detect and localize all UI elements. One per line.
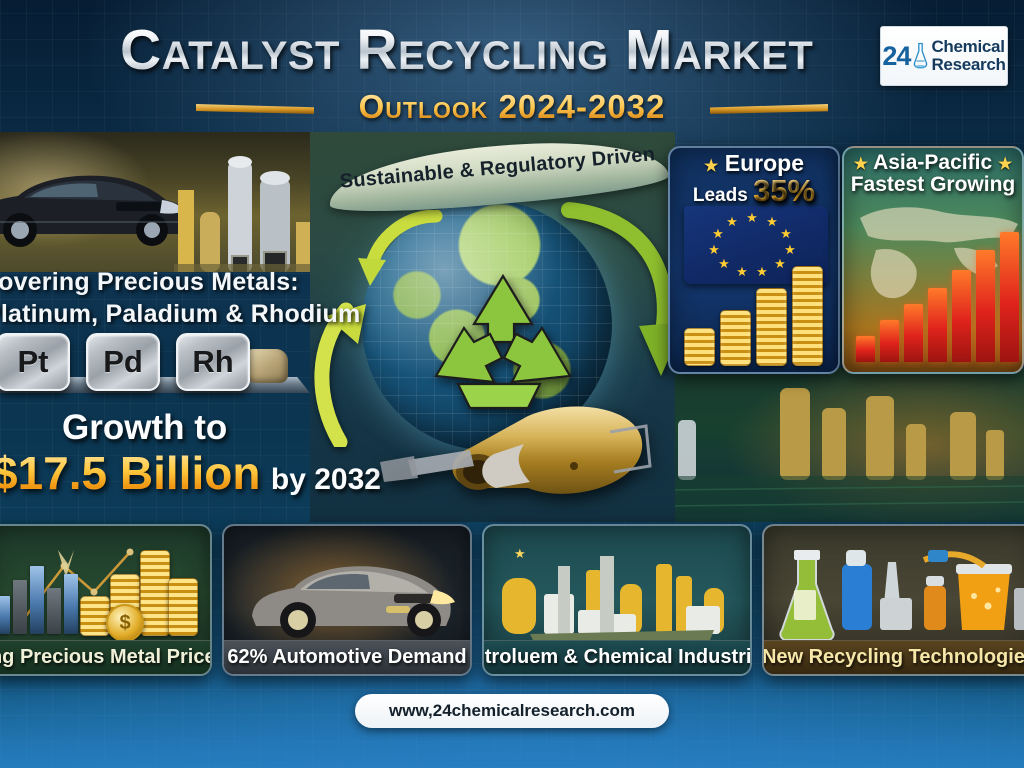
rising-bars-icon (856, 230, 1020, 362)
logo-wordmark: Chemical Research (931, 38, 1005, 73)
logo-line-2: Research (931, 56, 1005, 74)
flask-icon (913, 41, 928, 71)
bar (856, 336, 875, 362)
platinum-badge[interactable]: Pt (0, 333, 70, 391)
bar (928, 288, 947, 362)
infographic-poster: Catalyst Recycling Market Outlook 2024-2… (0, 0, 1024, 768)
europe-title-row: ★ Europe (670, 152, 838, 175)
panel-caption: New Recycling Technologies (764, 640, 1024, 674)
svg-text:★: ★ (766, 214, 778, 229)
svg-text:★: ★ (514, 546, 526, 561)
europe-panel-heading: ★ Europe Leads 35% (670, 152, 838, 207)
svg-text:★: ★ (726, 214, 738, 229)
ore-chunk-right-icon (246, 349, 288, 383)
panel-caption: 62% Automotive Demand (224, 640, 470, 674)
coins-and-chart-icon: $ (80, 540, 198, 636)
growth-value: $17.5 Billion (0, 447, 260, 499)
asia-title-row: ★ Asia-Pacific ★ (844, 152, 1022, 174)
bar (0, 596, 10, 634)
precious-metals-heading: covering Precious Metals: Platinum, Pala… (0, 268, 314, 329)
panel-caption: sing Precious Metal Prices (0, 640, 210, 674)
silver-sedan-icon (246, 548, 456, 640)
bar (976, 250, 995, 362)
star-icon: ★ (998, 156, 1012, 173)
star-icon: ★ (704, 158, 718, 175)
logo-mark-24: 24 (882, 41, 910, 72)
growth-year: by 2032 (271, 463, 381, 496)
asia-pacific-region-panel[interactable]: ★ Asia-Pacific ★ Fastest Growing (842, 146, 1024, 374)
bar (1000, 232, 1019, 362)
bar (47, 588, 61, 634)
rhodium-badge[interactable]: Rh (176, 333, 250, 391)
coin-stack (756, 288, 787, 366)
star-icon: ★ (854, 156, 868, 173)
mini-bar-chart-icon (0, 556, 78, 634)
growth-value-row: $17.5 Billion by 2032 (0, 446, 400, 500)
bar (30, 566, 44, 634)
coin-stack (80, 596, 110, 636)
precious-metals-line-2: Platinum, Paladium & Rhodium (0, 300, 314, 329)
coin-stack (168, 578, 198, 636)
bar (13, 580, 27, 634)
europe-share-row: Leads 35% (670, 175, 838, 207)
automotive-refinery-scene (0, 132, 324, 272)
metal-symbol-badges: Pt Pd Rh (0, 333, 322, 395)
europe-region-panel[interactable]: ★ Europe Leads 35% ★ ★ ★ ★ ★ ★ ★ ★ ★ (668, 146, 840, 374)
catalytic-converter-icon (378, 392, 668, 514)
coin-stacks-icon (680, 256, 832, 366)
svg-text:★: ★ (784, 242, 796, 257)
lab-equipment-icon (776, 542, 1024, 642)
dark-sedan-icon (0, 156, 196, 248)
page-title: Catalyst Recycling Market (120, 22, 900, 79)
bar (880, 320, 899, 362)
svg-text:★: ★ (708, 242, 720, 257)
subtitle-wrapper: Outlook 2024-2032 (0, 88, 1024, 126)
brand-logo[interactable]: 24 Chemical Research (880, 26, 1008, 86)
precious-metal-prices-panel[interactable]: $ sing Precious Metal Prices (0, 524, 212, 676)
coin-stack (792, 266, 823, 366)
refinery-towers-icon (174, 138, 324, 272)
page-subtitle: Outlook 2024-2032 (359, 88, 666, 126)
growth-label: Growth to (62, 408, 400, 448)
new-recycling-technologies-panel[interactable]: New Recycling Technologies (762, 524, 1024, 676)
europe-share-value: 35% (753, 173, 815, 208)
svg-text:★: ★ (780, 226, 792, 241)
svg-text:★: ★ (746, 210, 758, 225)
logo-line-1: Chemical (931, 38, 1005, 56)
coin-stack (720, 310, 751, 366)
europe-leads-label: Leads (693, 185, 748, 206)
gold-coin-icon: $ (106, 604, 144, 642)
poster-header: Catalyst Recycling Market Outlook 2024-2… (0, 0, 1024, 132)
bar (904, 304, 923, 362)
coin-stack (684, 328, 715, 366)
website-url[interactable]: www,24chemicalresearch.com (355, 694, 669, 728)
asia-title: Asia-Pacific (873, 151, 992, 174)
sustainability-banner-text: Sustainable & Regulatory Driven (327, 142, 668, 195)
svg-text:★: ★ (712, 226, 724, 241)
bar (64, 574, 78, 634)
growth-statement: Growth to $17.5 Billion by 2032 (0, 408, 400, 500)
automotive-demand-panel[interactable]: 62% Automotive Demand (222, 524, 472, 676)
coin-stack (140, 550, 170, 636)
refinery-complex-icon: ★ (500, 544, 738, 642)
bar (952, 270, 971, 362)
palladium-badge[interactable]: Pd (86, 333, 160, 391)
recycle-icon (428, 272, 578, 412)
precious-metals-line-1: covering Precious Metals: (0, 268, 314, 297)
asia-panel-heading: ★ Asia-Pacific ★ Fastest Growing (844, 152, 1022, 196)
asia-subtitle: Fastest Growing (844, 174, 1022, 196)
panel-caption: Petroluem & Chemical Industries (484, 640, 750, 674)
petroleum-chemical-panel[interactable]: ★ Petroluem & Chemical Industries (482, 524, 752, 676)
